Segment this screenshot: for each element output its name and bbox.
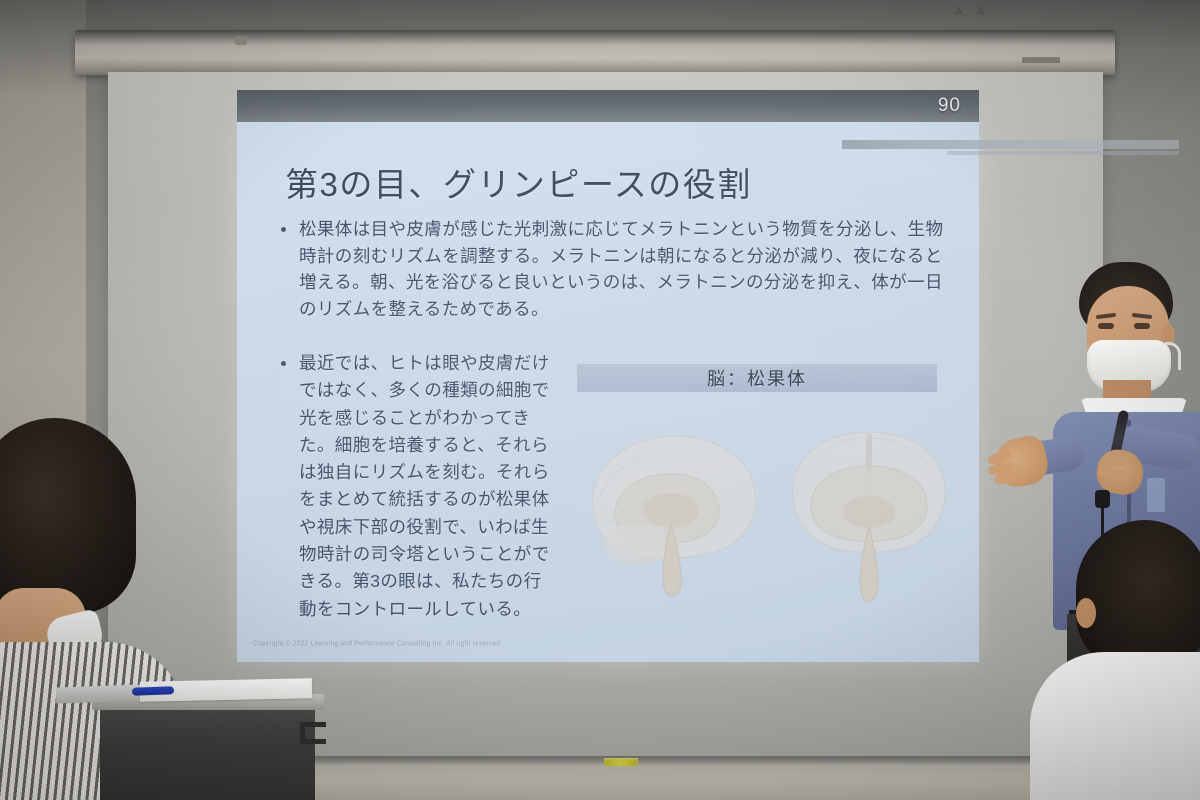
sagittal-brain-icon <box>575 414 775 614</box>
lecture-room-photo: ᴀ ᴀ 90 第3の目、グリンピースの役割 松果体は目や皮膚が感じた光刺激に応じ… <box>0 0 1200 800</box>
desk-papers-secondary <box>56 685 143 704</box>
slide-bullet-2: 最近では、ヒトは眼や皮膚だけではなく、多くの種類の細胞で光を感じることがわかって… <box>281 350 553 623</box>
lecture-desk <box>100 700 315 800</box>
figure-caption-text: 脳：松果体 <box>707 365 807 391</box>
presenter-mask-strap <box>1165 342 1181 370</box>
roller-bracket-left <box>235 36 247 45</box>
presenter-finger <box>1098 468 1125 480</box>
presenter-eye-left <box>1098 323 1114 329</box>
ceiling-marks: ᴀ ᴀ <box>955 2 1065 24</box>
slide-bullet-1: 松果体は目や皮膚が感じた光刺激に応じてメラトニンという物質を分泌し、生物時計の刻… <box>281 216 949 322</box>
audience-left-hair <box>0 418 136 614</box>
presentation-slide: 第3の目、グリンピースの役割 松果体は目や皮膚が感じた光刺激に応じてメラトニンと… <box>237 122 979 662</box>
slide-accent-bar <box>842 140 1179 149</box>
slide-bullet-1-text: 松果体は目や皮膚が感じた光刺激に応じてメラトニンという物質を分泌し、生物時計の刻… <box>299 216 949 322</box>
bullet-point-icon <box>281 361 286 366</box>
audience-right-hair <box>1076 520 1200 670</box>
roller-logo <box>1022 57 1060 63</box>
slide-accent-bar-secondary <box>947 151 1179 155</box>
audience-right-white-shirt <box>1030 652 1200 800</box>
presenter-finger <box>1102 456 1127 467</box>
slide-top-band: 90 <box>237 90 979 124</box>
projector-screen-roller <box>75 30 1115 75</box>
presenter-finger <box>994 474 1016 484</box>
bullet-point-icon <box>281 227 286 232</box>
audience-person-right <box>1058 520 1200 800</box>
presenter-eye-right <box>1134 323 1150 329</box>
audience-right-ear <box>1076 598 1096 628</box>
slide-title: 第3の目、グリンピースの役割 <box>285 158 945 206</box>
slide-bullet-2-text: 最近では、ヒトは眼や皮膚だけではなく、多くの種類の細胞で光を感じることがわかって… <box>299 350 553 623</box>
desk-blue-pen <box>132 686 174 695</box>
figure-caption-band: 脳：松果体 <box>577 364 937 392</box>
desk-bag-hook <box>300 722 326 744</box>
presenter-badge <box>1147 478 1165 512</box>
coronal-brain-icon <box>777 412 962 612</box>
brain-figure-area <box>567 404 957 634</box>
slide-page-number: 90 <box>938 95 961 117</box>
